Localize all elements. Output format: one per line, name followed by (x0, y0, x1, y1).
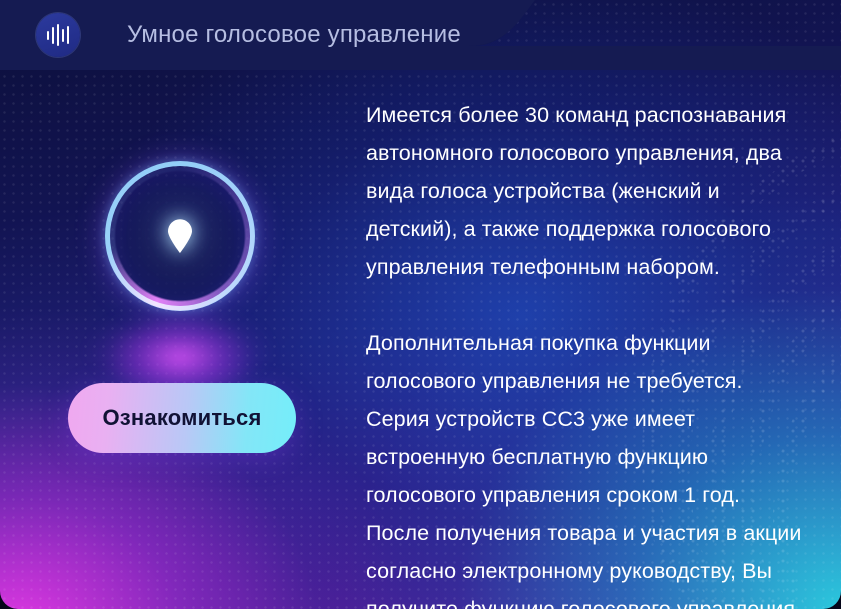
description-text: Имеется более 30 команд распознавания ав… (366, 96, 808, 609)
card-header: Умное голосовое управление (0, 0, 841, 70)
learn-more-button[interactable]: Ознакомиться (68, 383, 296, 453)
voice-orb-graphic (90, 146, 270, 326)
audio-equalizer-icon (36, 13, 80, 57)
voice-control-promo-card: Умное голосовое управление Ознакомиться … (0, 0, 841, 609)
equalizer-bars (47, 24, 70, 46)
paragraph-1: Имеется более 30 команд распознавания ав… (366, 96, 808, 286)
paragraph-2: Дополнительная покупка функции голосовог… (366, 324, 808, 609)
page-title: Умное голосовое управление (127, 21, 461, 49)
orb-ring (110, 166, 250, 306)
voice-pin-icon (167, 219, 193, 253)
